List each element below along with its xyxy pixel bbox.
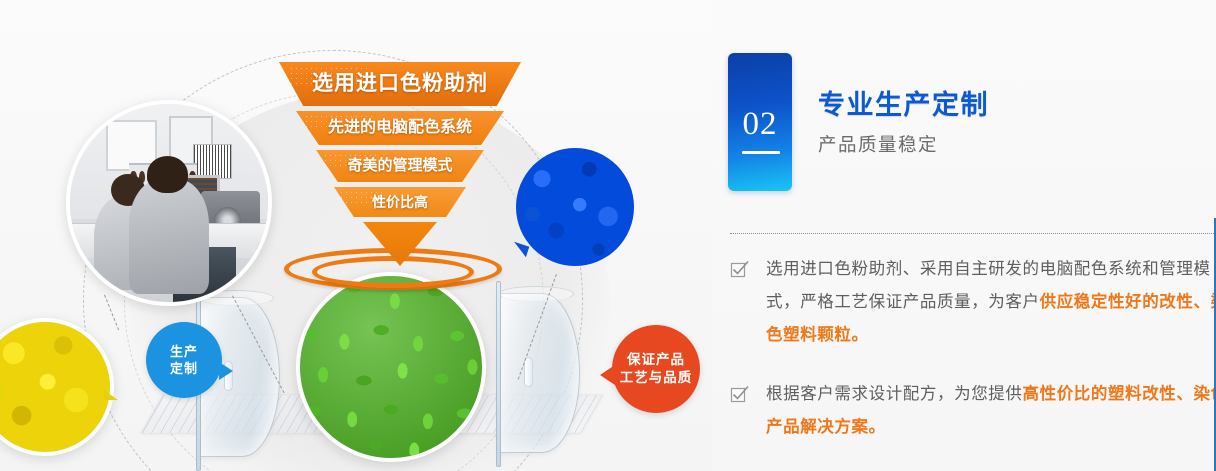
callout-tail [600,365,615,385]
funnel-layer-2-label: 先进的电脑配色系统 [328,119,472,136]
funnel-layer-1: 选用进口色粉助剂 [279,62,521,106]
yellow-powder-texture [0,322,110,452]
green-pellets-photo [296,272,486,462]
callout-line-1: 生产 [170,343,198,360]
callout-production-customization: 生产 定制 [146,322,222,398]
visual-panel: 选用进口色粉助剂 先进的电脑配色系统 奇美的管理模式 性价比高 生产 定制 [0,0,712,471]
callout-line-1: 保证产品 [627,351,685,369]
list-item-text: 选用进口色粉助剂、采用自主研发的电脑配色系统和管理模式，严格工艺保证产品质量，为… [766,253,1216,352]
glass-blade [496,281,501,467]
page-title: 专业生产定制 [818,83,989,122]
feature-list: 选用进口色粉助剂、采用自主研发的电脑配色系统和管理模式，严格工艺保证产品质量，为… [730,253,1216,470]
yellow-pigment-photo [0,318,114,456]
section-number-badge: 02 [728,53,792,191]
lab-barcode-sheet [193,144,233,180]
glass-handle [524,357,533,387]
glass-top-rim [498,286,574,302]
lab-scene [70,104,268,302]
section-header-text: 专业生产定制 产品质量稳定 [818,53,989,191]
section-number-underline [742,151,780,154]
checkbox-checked-icon [730,253,766,352]
page-subtitle: 产品质量稳定 [818,131,989,157]
section-header: 02 专业生产定制 产品质量稳定 [728,53,989,191]
promo-banner: 选用进口色粉助剂 先进的电脑配色系统 奇美的管理模式 性价比高 生产 定制 [0,0,1216,471]
content-panel: 02 专业生产定制 产品质量稳定 选用进口色粉助剂、采用自主研发的电脑配色系统和… [712,0,1216,471]
funnel-layer-4-label: 性价比高 [372,194,428,210]
funnel-layer-2: 先进的电脑配色系统 [296,111,504,145]
list-item-text: 根据客户需求设计配方，为您提供高性价比的塑料改性、染色产品解决方案。 [766,378,1216,444]
list-item: 根据客户需求设计配方，为您提供高性价比的塑料改性、染色产品解决方案。 [730,378,1216,444]
funnel-layer-4: 性价比高 [334,187,466,217]
lab-person-front [129,179,208,294]
green-pellets-texture [296,272,486,462]
funnel-layer-3-label: 奇美的管理模式 [347,157,452,174]
funnel-diagram: 选用进口色粉助剂 先进的电脑配色系统 奇美的管理模式 性价比高 [255,62,545,271]
funnel-layer-3: 奇美的管理模式 [316,150,484,182]
lab-technicians-photo [66,100,272,306]
callout-line-2: 定制 [170,360,198,377]
checkbox-checked-icon [730,378,766,444]
callout-tail [219,362,233,380]
header-divider [730,233,1216,234]
funnel-tip [363,222,437,266]
funnel-layer-1-label: 选用进口色粉助剂 [312,72,488,95]
yellow-bubble-tail [104,390,118,400]
list-item: 选用进口色粉助剂、采用自主研发的电脑配色系统和管理模式，严格工艺保证产品质量，为… [730,253,1216,352]
callout-quality-assurance: 保证产品 工艺与品质 [612,325,700,413]
section-number: 02 [728,106,792,143]
callout-line-2: 工艺与品质 [620,369,693,387]
list-item-text-plain: 根据客户需求设计配方，为您提供 [766,385,1023,403]
